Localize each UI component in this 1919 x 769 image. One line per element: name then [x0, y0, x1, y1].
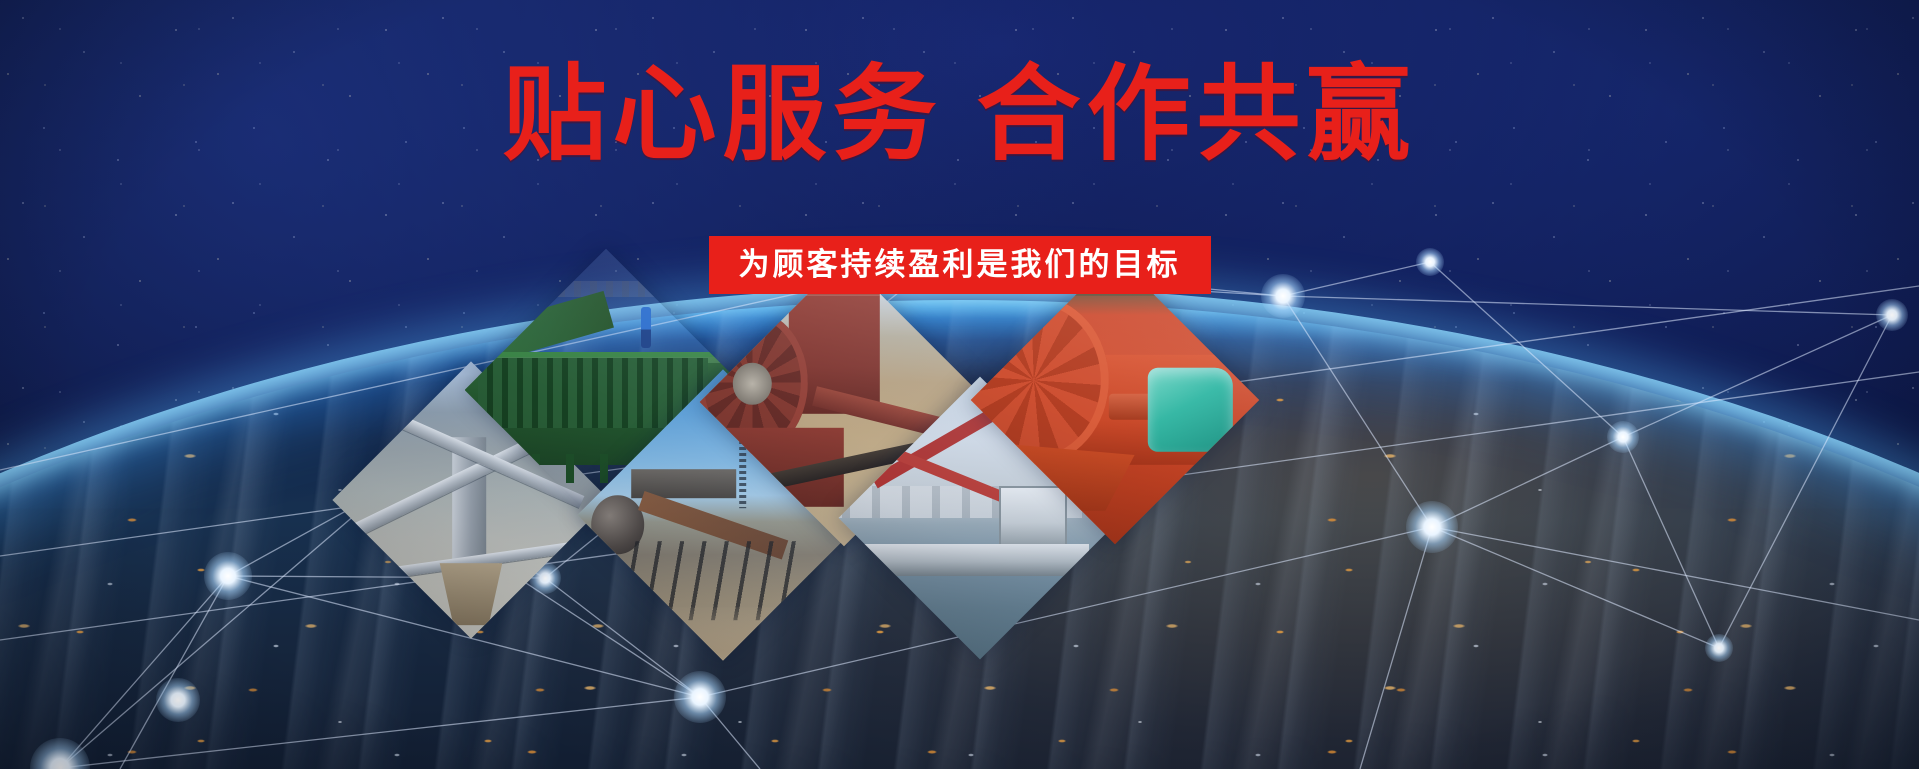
network-node [204, 552, 252, 600]
network-node [1876, 299, 1908, 331]
network-node [1406, 501, 1458, 553]
hero-subtitle: 为顾客持续盈利是我们的目标 [709, 236, 1211, 294]
headline-phrase-2: 合作共赢 [977, 57, 1417, 173]
hero-banner: 贴心服务合作共赢 为顾客持续盈利是我们的目标 [0, 0, 1919, 769]
network-node [674, 671, 726, 723]
hero-subtitle-wrap: 为顾客持续盈利是我们的目标 [0, 236, 1919, 294]
network-node [156, 678, 200, 722]
network-node [366, 472, 402, 508]
network-node [529, 562, 561, 594]
network-node [1705, 634, 1733, 662]
network-node [1607, 421, 1639, 453]
headline-phrase-1: 贴心服务 [502, 57, 942, 173]
hero-headline: 贴心服务合作共赢 [0, 60, 1919, 170]
